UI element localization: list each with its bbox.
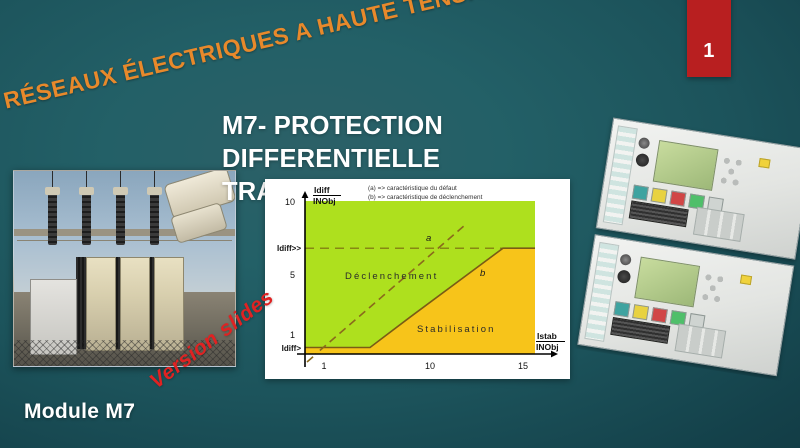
transformer-tank xyxy=(86,257,116,351)
relay-keypad xyxy=(674,323,726,358)
relay-keypad xyxy=(693,207,745,242)
curve-label-b: b xyxy=(480,268,485,279)
x-tick-1: 1 xyxy=(321,361,326,371)
course-kicker: RÉSEAUX ÉLECTRIQUES A HAUTE TENSION xyxy=(1,0,465,115)
x-tick-10: 10 xyxy=(425,361,435,371)
relay-navigation-buttons xyxy=(698,271,737,310)
transformer-radiator xyxy=(76,257,86,349)
relay-navigation-buttons xyxy=(717,154,756,193)
y-axis-label-numerator: Idiff xyxy=(314,185,330,195)
relay-button-teal xyxy=(613,301,630,317)
curve-label-a: a xyxy=(426,233,431,244)
x-axis-label-denominator: INObj xyxy=(536,342,559,352)
relay-device xyxy=(577,234,794,376)
hv-bushing xyxy=(116,193,125,245)
y-axis-label-denominator: INObj xyxy=(313,196,336,206)
x-tick-15: 15 xyxy=(518,361,528,371)
idiff-high-threshold-label: Idiff>> xyxy=(277,244,301,253)
slide-number: 1 xyxy=(687,40,731,63)
y-tick-10: 10 xyxy=(285,197,295,207)
relay-knob xyxy=(619,253,632,266)
relay-lcd-screen xyxy=(634,257,700,308)
chart-svg: 10 5 1 1 10 15 Idiff>> Idiff> Idiff INOb… xyxy=(265,179,570,379)
trip-zone-label: Déclenchement xyxy=(345,271,438,282)
hv-bushing xyxy=(48,193,57,245)
tripping-characteristic-chart: 10 5 1 1 10 15 Idiff>> Idiff> Idiff INOb… xyxy=(265,179,570,379)
y-axis-arrow xyxy=(302,191,309,198)
relay-button-yellow xyxy=(632,304,649,320)
y-tick-5: 5 xyxy=(290,270,295,280)
series-a-fault-characteristic-tail xyxy=(307,356,314,362)
relay-button-red xyxy=(651,307,668,323)
transformer-tank xyxy=(154,257,184,351)
title-line-1: M7- PROTECTION DIFFERENTIELLE xyxy=(222,112,443,173)
x-axis-label-numerator: Istab xyxy=(537,331,557,341)
hv-bushing xyxy=(82,193,91,245)
relay-status-led xyxy=(758,158,770,169)
relay-knob xyxy=(617,269,632,284)
idiff-low-threshold-label: Idiff> xyxy=(282,344,302,353)
hv-bushing xyxy=(150,193,159,245)
presentation-slide: 1 xyxy=(0,0,800,448)
legend-entry-b: (b) => caractéristique de déclenchement xyxy=(368,194,483,201)
relay-button-red xyxy=(669,191,686,207)
y-tick-1: 1 xyxy=(290,330,295,340)
module-footer: Module M7 xyxy=(24,400,135,424)
transformer-tank xyxy=(120,257,150,351)
restraint-zone-label: Stabilisation xyxy=(417,324,496,335)
slide-number-badge: 1 xyxy=(687,0,731,77)
legend-entry-a: (a) => caractéristique du défaut xyxy=(368,185,457,192)
relay-lcd-screen xyxy=(653,140,719,191)
relay-status-led xyxy=(740,274,752,285)
